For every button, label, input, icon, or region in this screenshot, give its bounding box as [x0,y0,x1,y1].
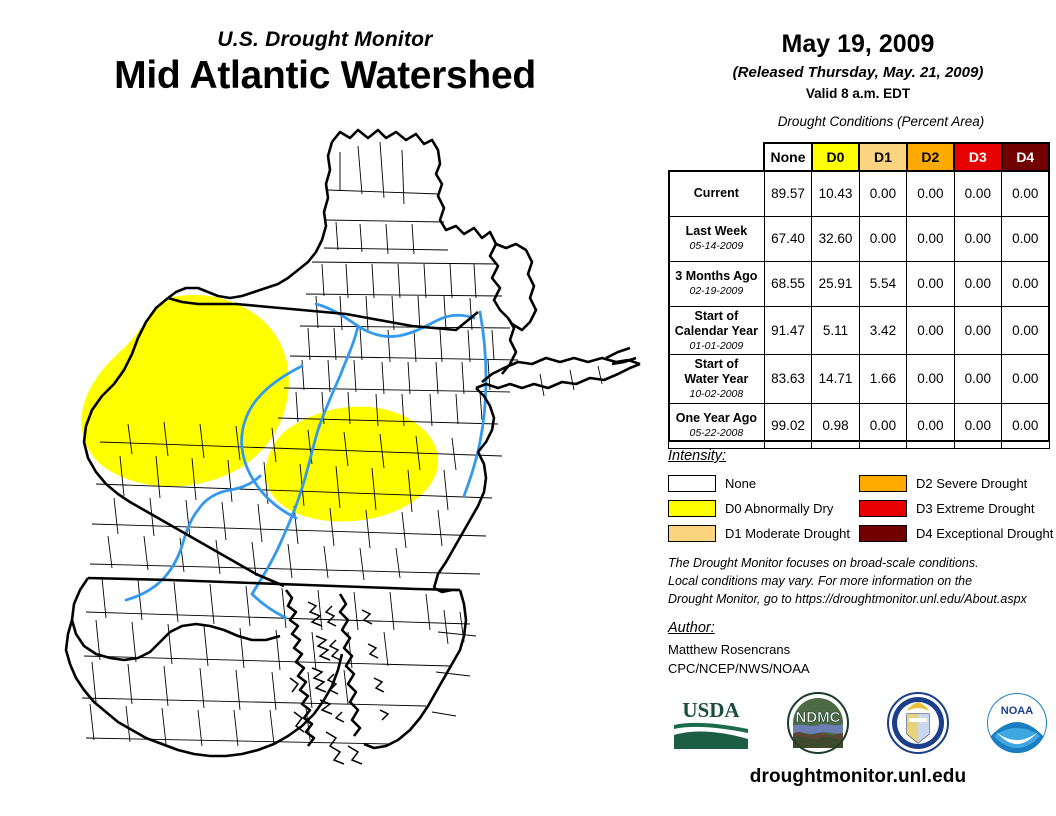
legend-label: D3 Extreme Drought [916,501,1035,516]
cell-d1: 5.54 [859,261,906,306]
table-row: Start of Calendar Year 01-01-2009 91.47 … [669,306,1050,355]
swatch-d4-icon [859,525,907,542]
author-affiliation: CPC/NCEP/NWS/NOAA [668,660,1054,679]
cell-none: 83.63 [764,355,812,404]
cell-d4: 0.00 [1002,216,1049,261]
cell-d3: 0.00 [954,403,1001,448]
legend-label: None [725,476,756,491]
disclaimer-text: The Drought Monitor focuses on broad-sca… [668,555,1054,608]
legend-column-right: D2 Severe Drought D3 Extreme Drought D4 … [859,471,1050,546]
title-block: U.S. Drought Monitor Mid Atlantic Waters… [0,28,650,99]
table-caption: Drought Conditions (Percent Area) [706,114,1056,129]
cell-d0: 10.43 [812,171,859,216]
cell-d0: 32.60 [812,216,859,261]
table-row: Start of Water Year 10-02-2008 83.63 14.… [669,355,1050,404]
author-block: Author: Matthew Rosencrans CPC/NCEP/NWS/… [668,620,1054,679]
drought-area-d0-west [81,295,289,486]
usda-logo-icon: USDA [672,695,750,751]
page-supertitle: U.S. Drought Monitor [0,28,650,51]
cell-none: 91.47 [764,306,812,355]
row-label-current: Current [669,171,765,216]
legend-column-left: None D0 Abnormally Dry D1 Moderate Droug… [668,471,859,546]
page-title: Mid Atlantic Watershed [0,54,650,99]
cell-d1: 1.66 [859,355,906,404]
row-label-start-water-year: Start of Water Year 10-02-2008 [669,355,765,404]
cell-d4: 0.00 [1002,261,1049,306]
column-header-d3: D3 [954,143,1001,171]
noaa-logo-icon: NOAA [986,692,1048,754]
row-label-start-calendar-year: Start of Calendar Year 01-01-2009 [669,306,765,355]
column-header-d2: D2 [907,143,954,171]
author-name: Matthew Rosencrans [668,641,1054,660]
noaa-logo[interactable]: NOAA [986,692,1048,759]
table-corner-cell [669,143,765,171]
svg-text:NOAA: NOAA [1001,705,1033,717]
usda-logo[interactable]: USDA [672,695,750,756]
cell-d1: 3.42 [859,306,906,355]
disclaimer-line-3: Drought Monitor, go to https://droughtmo… [668,591,1054,609]
row-label-name: Current [673,186,760,201]
table-row: Current 89.57 10.43 0.00 0.00 0.00 0.00 [669,171,1050,216]
ndmc-logo[interactable]: NDMC [787,692,849,759]
cell-d1: 0.00 [859,216,906,261]
row-label-name: 3 Months Ago [673,269,760,284]
drought-monitor-page: U.S. Drought Monitor Mid Atlantic Waters… [0,0,1056,816]
cell-d2: 0.00 [907,403,954,448]
date-block: May 19, 2009 (Released Thursday, May. 21… [660,0,1056,101]
row-label-name: One Year Ago [673,411,760,426]
column-header-none: None [764,143,812,171]
legend-item-d2: D2 Severe Drought [859,471,1050,496]
legend-item-d3: D3 Extreme Drought [859,496,1050,521]
cell-d4: 0.00 [1002,171,1049,216]
cell-d4: 0.00 [1002,355,1049,404]
map-svg [40,112,660,802]
commerce-seal-icon [887,692,949,754]
row-label-date: 02-19-2009 [673,285,760,298]
table-row: 3 Months Ago 02-19-2009 68.55 25.91 5.54… [669,261,1050,306]
report-date: May 19, 2009 [660,30,1056,59]
column-header-d0: D0 [812,143,859,171]
cell-d2: 0.00 [907,216,954,261]
row-label-date: 05-22-2008 [673,427,760,440]
cell-d0: 5.11 [812,306,859,355]
drought-map[interactable] [40,112,660,802]
release-date: (Released Thursday, May. 21, 2009) [660,64,1056,81]
cell-none: 89.57 [764,171,812,216]
cell-d2: 0.00 [907,355,954,404]
cell-d4: 0.00 [1002,306,1049,355]
row-label-3-months-ago: 3 Months Ago 02-19-2009 [669,261,765,306]
cell-none: 67.40 [764,216,812,261]
legend-item-d4: D4 Exceptional Drought [859,521,1050,546]
legend-label: D0 Abnormally Dry [725,501,833,516]
legend-label: D2 Severe Drought [916,476,1027,491]
row-label-date: 10-02-2008 [673,388,760,401]
cell-d1: 0.00 [859,403,906,448]
swatch-d2-icon [859,475,907,492]
column-header-d4: D4 [1002,143,1049,171]
cell-d0: 25.91 [812,261,859,306]
table-row: One Year Ago 05-22-2008 99.02 0.98 0.00 … [669,403,1050,448]
row-label-date: 05-14-2009 [673,240,760,253]
legend-item-d0: D0 Abnormally Dry [668,496,859,521]
svg-text:NDMC: NDMC [796,709,841,726]
cell-d4: 0.00 [1002,403,1049,448]
legend-item-d1: D1 Moderate Drought [668,521,859,546]
row-label-last-week: Last Week 05-14-2009 [669,216,765,261]
row-label-name: Start of Water Year [673,357,760,387]
column-header-d1: D1 [859,143,906,171]
legend-label: D1 Moderate Drought [725,526,850,541]
map-base [66,130,640,764]
row-label-one-year-ago: One Year Ago 05-22-2008 [669,403,765,448]
row-label-name: Start of Calendar Year [673,309,760,339]
disclaimer-line-2: Local conditions may vary. For more info… [668,573,1054,591]
intensity-legend: Intensity: None D0 Abnormally Dry D1 Mod… [668,448,1050,546]
swatch-d1-icon [668,525,716,542]
legend-item-none: None [668,471,859,496]
cell-d3: 0.00 [954,171,1001,216]
legend-label: D4 Exceptional Drought [916,526,1053,541]
ndmc-logo-icon: NDMC [787,692,849,754]
cell-d3: 0.00 [954,306,1001,355]
cell-d3: 0.00 [954,261,1001,306]
table-row: Last Week 05-14-2009 67.40 32.60 0.00 0.… [669,216,1050,261]
drought-area-d0-east [265,407,438,522]
swatch-none-icon [668,475,716,492]
swatch-d0-icon [668,500,716,517]
right-panel: May 19, 2009 (Released Thursday, May. 21… [660,0,1056,816]
cell-d2: 0.00 [907,261,954,306]
legend-title: Intensity: [668,448,1050,464]
drought-conditions-table: None D0 D1 D2 D3 D4 Current 89.57 10.43 … [668,142,1050,449]
valid-time: Valid 8 a.m. EDT [660,86,1056,101]
row-label-name: Last Week [673,224,760,239]
svg-text:USDA: USDA [682,698,740,722]
commerce-seal-logo[interactable] [887,692,949,759]
cell-d3: 0.00 [954,216,1001,261]
cell-d2: 0.00 [907,306,954,355]
footer-url[interactable]: droughtmonitor.unl.edu [660,766,1056,788]
cell-d0: 14.71 [812,355,859,404]
cell-none: 68.55 [764,261,812,306]
cell-none: 99.02 [764,403,812,448]
logo-strip: USDA NDMC [664,690,1056,760]
swatch-d3-icon [859,500,907,517]
disclaimer-line-1: The Drought Monitor focuses on broad-sca… [668,555,1054,573]
cell-d2: 0.00 [907,171,954,216]
author-title: Author: [668,620,1054,636]
cell-d1: 0.00 [859,171,906,216]
cell-d0: 0.98 [812,403,859,448]
cell-d3: 0.00 [954,355,1001,404]
table-header-row: None D0 D1 D2 D3 D4 [669,143,1050,171]
row-label-date: 01-01-2009 [673,340,760,353]
